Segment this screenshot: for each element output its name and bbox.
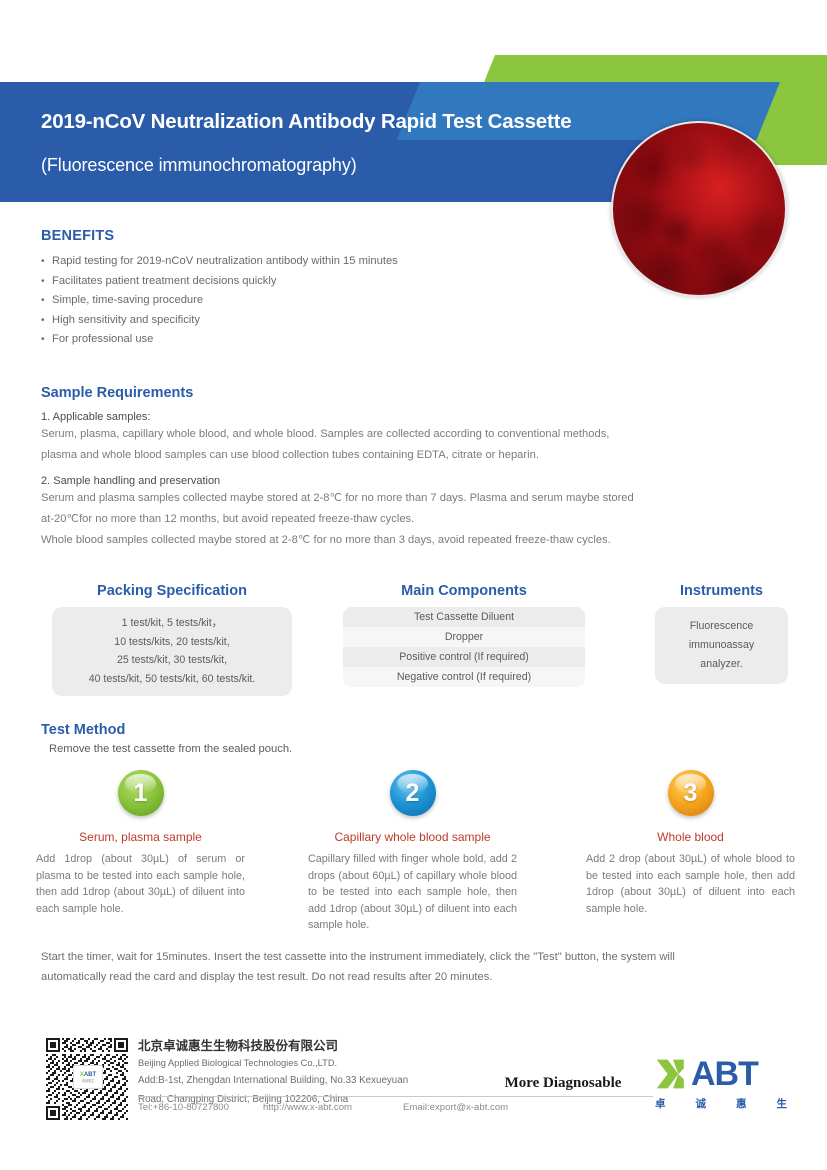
components-list: Test Cassette Diluent Dropper Positive c… [343, 607, 585, 687]
applicable-samples-line2: plasma and whole blood samples can use b… [41, 446, 789, 465]
list-item: Facilitates patient treatment decisions … [41, 272, 601, 292]
instruments-line: immunoassay [663, 636, 780, 655]
benefits-list: Rapid testing for 2019-nCoV neutralizati… [41, 252, 601, 350]
qr-code: XABT 卓诚惠生 [46, 1038, 128, 1120]
step-body-1: Add 1drop (about 30µL) of serum or plasm… [33, 851, 248, 917]
test-method-heading: Test Method [41, 722, 789, 738]
list-item: Dropper [343, 627, 585, 647]
handling-line2: at-20℃for no more than 12 months, but av… [41, 510, 789, 529]
contact-info: Tel:+86-10-80727800http://www.x-abt.comE… [138, 1102, 568, 1113]
step-number-badge-1: 1 [118, 770, 164, 816]
sample-requirements-heading: Sample Requirements [41, 385, 789, 401]
list-item: For professional use [41, 330, 601, 350]
step-title-1: Serum, plasma sample [33, 830, 248, 844]
company-name-cn: 北京卓诚惠生生物科技股份有限公司 [138, 1038, 498, 1054]
contact-tel: Tel:+86-10-80727800 [138, 1102, 263, 1113]
product-title: 2019-nCoV Neutralization Antibody Rapid … [41, 110, 641, 134]
brand-cn-char: 卓 [655, 1096, 666, 1111]
step-body-2: Capillary filled with finger whole bold,… [305, 851, 520, 934]
test-method-lead: Remove the test cassette from the sealed… [41, 743, 789, 755]
handling-line3: Whole blood samples collected maybe stor… [41, 531, 789, 550]
page-header: 2019-nCoV Neutralization Antibody Rapid … [0, 0, 827, 215]
qr-logo-text: XABT [80, 1072, 96, 1079]
brand-cn-char: 诚 [696, 1096, 707, 1111]
list-item: Positive control (If required) [343, 647, 585, 667]
instruments-line: analyzer. [663, 655, 780, 674]
handling-line1: Serum and plasma samples collected maybe… [41, 489, 789, 508]
company-address-line1: Add:B-1st, Zhengdan International Buildi… [138, 1073, 498, 1089]
brand-cn-char: 惠 [736, 1096, 747, 1111]
brand-name: ABT [691, 1057, 758, 1091]
company-name-en: Beijing Applied Biological Technologies … [138, 1056, 498, 1070]
list-item: High sensitivity and specificity [41, 311, 601, 331]
step-body-3: Add 2 drop (about 30µL) of whole blood t… [583, 851, 798, 917]
benefits-heading: BENEFITS [41, 228, 601, 244]
instruments-heading: Instruments [655, 583, 788, 599]
list-item: Negative control (If required) [343, 667, 585, 687]
instruments-box: Fluorescence immunoassay analyzer. [655, 607, 788, 684]
packing-line: 1 test/kit, 5 tests/kit， [60, 614, 284, 633]
brand-chinese-row: 卓 诚 惠 生 [655, 1096, 787, 1111]
components-heading: Main Components [343, 583, 585, 599]
step-title-3: Whole blood [583, 830, 798, 844]
list-item: Simple, time-saving procedure [41, 291, 601, 311]
qr-embedded-logo: XABT 卓诚惠生 [73, 1065, 103, 1089]
brand-x-icon [655, 1056, 691, 1092]
packing-line: 10 tests/kits, 20 tests/kit, [60, 633, 284, 652]
step-number-badge-2: 2 [390, 770, 436, 816]
test-step-2: 2 Capillary whole blood sample Capillary… [305, 770, 520, 934]
test-method-section: Test Method Remove the test cassette fro… [41, 722, 789, 755]
packing-box: 1 test/kit, 5 tests/kit， 10 tests/kits, … [52, 607, 292, 696]
brand-logo-row: ABT [655, 1054, 790, 1094]
step-number-badge-3: 3 [668, 770, 714, 816]
contact-email[interactable]: Email:export@x-abt.com [403, 1102, 508, 1113]
qr-logo-abt: ABT [84, 1072, 96, 1078]
instruments-panel: Instruments Fluorescence immunoassay ana… [655, 583, 788, 684]
footer-divider [138, 1096, 653, 1097]
step-number-2: 2 [390, 770, 436, 816]
test-step-3: 3 Whole blood Add 2 drop (about 30µL) of… [583, 770, 798, 917]
test-method-closing: Start the timer, wait for 15minutes. Ins… [41, 947, 793, 987]
blood-cells-image [611, 121, 787, 297]
test-step-1: 1 Serum, plasma sample Add 1drop (about … [33, 770, 248, 917]
step-title-2: Capillary whole blood sample [305, 830, 520, 844]
packing-specification-panel: Packing Specification 1 test/kit, 5 test… [52, 583, 292, 696]
handling-label: 2. Sample handling and preservation [41, 475, 789, 487]
applicable-samples-label: 1. Applicable samples: [41, 411, 789, 423]
closing-line1: Start the timer, wait for 15minutes. Ins… [41, 947, 793, 967]
main-components-panel: Main Components Test Cassette Diluent Dr… [343, 583, 585, 687]
list-item: Test Cassette Diluent [343, 607, 585, 627]
contact-website[interactable]: http://www.x-abt.com [263, 1102, 403, 1113]
closing-line2: automatically read the card and display … [41, 967, 793, 987]
tagline: More Diagnosable [478, 1075, 648, 1092]
page-footer: XABT 卓诚惠生 北京卓诚惠生生物科技股份有限公司 Beijing Appli… [0, 1030, 827, 1170]
packing-line: 40 tests/kit, 50 tests/kit, 60 tests/kit… [60, 670, 284, 689]
list-item: Rapid testing for 2019-nCoV neutralizati… [41, 252, 601, 272]
sample-requirements-section: Sample Requirements 1. Applicable sample… [41, 385, 789, 550]
packing-heading: Packing Specification [52, 583, 292, 599]
benefits-section: BENEFITS Rapid testing for 2019-nCoV neu… [41, 228, 601, 350]
instruments-line: Fluorescence [663, 617, 780, 636]
step-number-3: 3 [668, 770, 714, 816]
applicable-samples-line1: Serum, plasma, capillary whole blood, an… [41, 425, 789, 444]
brand-logo: ABT 卓 诚 惠 生 [655, 1054, 790, 1116]
specs-panels: Packing Specification 1 test/kit, 5 test… [0, 583, 827, 698]
qr-logo-subtext: 卓诚惠生 [82, 1079, 95, 1083]
step-number-1: 1 [118, 770, 164, 816]
product-subtitle: (Fluorescence immunochromatography) [41, 155, 641, 176]
brand-cn-char: 生 [777, 1096, 788, 1111]
packing-line: 25 tests/kit, 30 tests/kit, [60, 651, 284, 670]
